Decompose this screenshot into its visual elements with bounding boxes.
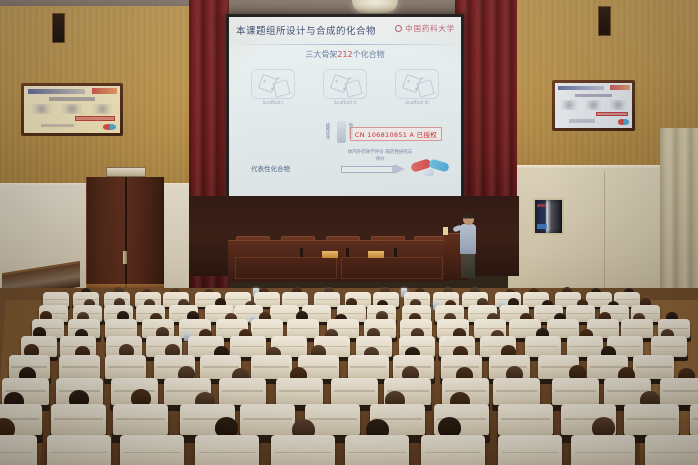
nameplate <box>322 251 338 258</box>
seat-with-cover[interactable] <box>571 435 635 465</box>
slide-divider <box>229 44 461 45</box>
seat-with-cover[interactable] <box>690 404 698 435</box>
slide-subtitle: 三大骨架212个化合物 <box>229 49 461 60</box>
arrow-label-left: 结构优化 <box>325 123 331 139</box>
scaffold-1: Scaffold I <box>242 69 304 106</box>
monitor-screen-left <box>24 86 120 133</box>
seat-with-cover[interactable] <box>219 378 266 405</box>
speaker-legs <box>461 250 475 278</box>
nameplate <box>368 251 384 258</box>
seat-with-cover[interactable] <box>624 404 679 435</box>
monitor-screen-right <box>555 83 632 128</box>
seat-with-cover[interactable] <box>240 404 295 435</box>
slide-university-logo: 中国药科大学 <box>395 23 455 34</box>
seat-with-cover[interactable] <box>251 355 292 379</box>
seat-with-cover[interactable] <box>633 355 674 379</box>
seat-with-cover[interactable] <box>230 336 266 357</box>
subtitle-suffix: 个化合物 <box>353 50 385 59</box>
scaffold-1-label: Scaffold I <box>242 101 304 106</box>
exit-double-door[interactable] <box>86 177 164 299</box>
university-seal-icon <box>395 25 402 32</box>
seat-with-cover[interactable] <box>47 435 111 465</box>
evaluation-note: 体内外药效学评价 成药性研究与评价 <box>347 150 413 164</box>
side-drape-right <box>660 128 698 308</box>
seat-with-cover[interactable] <box>645 435 698 465</box>
seat-with-cover[interactable] <box>421 435 485 465</box>
head-table <box>228 240 450 282</box>
ceiling-light-fixture <box>352 0 398 13</box>
right-arrow-icon <box>341 163 409 176</box>
door-handle[interactable] <box>123 251 127 264</box>
patent-badge: CN 106810851 A 已授权 <box>350 127 442 141</box>
seat-with-cover[interactable] <box>276 378 323 405</box>
lectern-lamp-icon <box>443 227 448 235</box>
drug-capsule-icon <box>411 158 453 182</box>
seat-with-cover[interactable] <box>493 378 540 405</box>
seat-with-cover[interactable] <box>348 355 389 379</box>
av-control-window[interactable] <box>533 198 564 235</box>
seat-with-cover[interactable] <box>498 435 562 465</box>
microphone-icon <box>300 248 303 257</box>
seat-with-cover[interactable] <box>113 404 168 435</box>
slide-logo-text: 中国药科大学 <box>405 23 455 34</box>
seat-with-cover[interactable] <box>59 355 100 379</box>
scaffold-2-label: Scaffold II <box>314 101 376 106</box>
seat-with-cover[interactable] <box>0 435 37 465</box>
scaffold-3: Scaffold III <box>386 69 448 106</box>
microphone-icon <box>394 248 397 257</box>
seat-with-cover[interactable] <box>271 435 335 465</box>
projected-slide: 本课题组所设计与合成的化合物 中国药科大学 三大骨架212个化合物 Scaffo… <box>229 17 461 197</box>
seat-with-cover[interactable] <box>195 435 259 465</box>
exit-sign <box>106 167 146 177</box>
representative-compound-label: 代表性化合物 <box>251 163 290 173</box>
seat-with-cover[interactable] <box>105 355 146 379</box>
scaffold-row: Scaffold I Scaffold II Scaffold III <box>237 69 453 123</box>
seat-with-cover[interactable] <box>331 378 378 405</box>
down-arrow-icon <box>337 121 346 143</box>
left-wall-monitor[interactable] <box>21 83 123 136</box>
chemical-structure-icon <box>395 69 439 99</box>
chemical-structure-icon <box>251 69 295 99</box>
seat-with-cover[interactable] <box>567 336 603 357</box>
door-split <box>125 177 127 299</box>
wall-vent-left-icon <box>52 13 65 43</box>
seat-with-cover[interactable] <box>651 336 687 357</box>
scaffold-3-label: Scaffold III <box>386 101 448 106</box>
seat-with-cover[interactable] <box>498 404 553 435</box>
seat-with-cover[interactable] <box>51 404 106 435</box>
speaker-head <box>463 213 474 225</box>
auditorium-scene: 本课题组所设计与合成的化合物 中国药科大学 三大骨架212个化合物 Scaffo… <box>0 0 698 465</box>
right-wall-monitor[interactable] <box>552 80 635 131</box>
wall-vent-right-icon <box>598 6 611 36</box>
slide-title: 本课题组所设计与合成的化合物 <box>236 23 376 37</box>
seat-with-cover[interactable] <box>660 378 698 405</box>
subtitle-count: 212 <box>337 50 352 59</box>
subtitle-prefix: 三大骨架 <box>305 50 337 59</box>
speaker-torso <box>460 224 476 254</box>
scaffold-2: Scaffold II <box>314 69 376 106</box>
seat-with-cover[interactable] <box>552 378 599 405</box>
chemical-structure-icon <box>323 69 367 99</box>
seat-with-cover[interactable] <box>525 336 561 357</box>
seat-with-cover[interactable] <box>345 435 409 465</box>
seat-with-cover[interactable] <box>120 435 184 465</box>
microphone-icon <box>346 248 349 257</box>
